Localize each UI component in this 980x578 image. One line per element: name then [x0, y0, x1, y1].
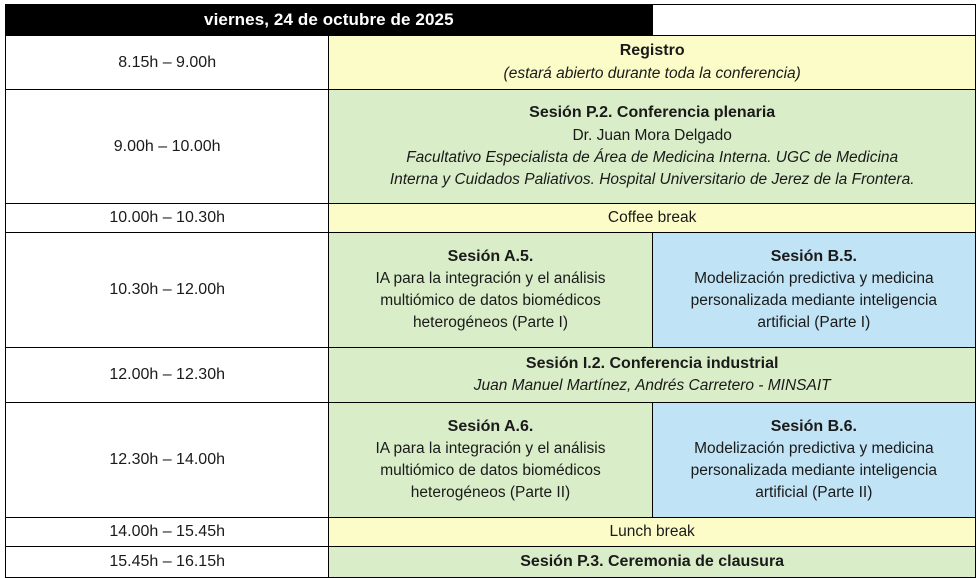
schedule-row: 14.00h – 15.45hLunch break: [6, 518, 976, 547]
schedule-row: 10.30h – 12.00hSesión A.5.IA para la int…: [6, 233, 976, 348]
session-title: Sesión A.6.: [329, 416, 651, 439]
break-cell[interactable]: Registro(estará abierto durante toda la …: [329, 36, 976, 90]
time-slot-cell: 15.45h – 16.15h: [6, 547, 329, 578]
time-slot-cell: 10.30h – 12.00h: [6, 233, 329, 348]
session-detail: heterogéneos (Parte I): [329, 312, 651, 334]
session-detail-italic: Interna y Cuidados Paliativos. Hospital …: [329, 169, 975, 191]
session-cell-track-a[interactable]: Sesión A.5.IA para la integración y el a…: [329, 233, 652, 348]
day-header-title: viernes, 24 de octubre de 2025: [6, 5, 653, 36]
session-title: Sesión B.5.: [653, 246, 975, 269]
time-slot-cell: 12.30h – 14.00h: [6, 403, 329, 518]
session-detail: Modelización predictiva y medicina: [653, 268, 975, 290]
session-detail-italic: Facultativo Especialista de Área de Medi…: [329, 147, 975, 169]
session-title: Sesión P.2. Conferencia plenaria: [329, 102, 975, 125]
session-cell-full[interactable]: Sesión P.3. Ceremonia de clausura: [329, 547, 976, 578]
schedule-row: 9.00h – 10.00hSesión P.2. Conferencia pl…: [6, 90, 976, 204]
break-cell[interactable]: Lunch break: [329, 518, 976, 547]
session-cell-track-b[interactable]: Sesión B.6.Modelización predictiva y med…: [652, 403, 975, 518]
schedule-row: 12.00h – 12.30hSesión I.2. Conferencia i…: [6, 348, 976, 403]
session-detail: Coffee break: [329, 207, 975, 229]
schedule-row: 12.30h – 14.00hSesión A.6.IA para la int…: [6, 403, 976, 518]
session-title: Sesión B.6.: [653, 416, 975, 439]
schedule-row: 8.15h – 9.00hRegistro(estará abierto dur…: [6, 36, 976, 90]
session-detail: heterogéneos (Parte II): [329, 482, 651, 504]
schedule-container: viernes, 24 de octubre de 2025 8.15h – 9…: [0, 0, 980, 577]
session-title: Sesión A.5.: [329, 246, 651, 269]
session-cell-track-b[interactable]: Sesión B.5.Modelización predictiva y med…: [652, 233, 975, 348]
schedule-table: viernes, 24 de octubre de 2025 8.15h – 9…: [5, 4, 976, 578]
session-detail: Dr. Juan Mora Delgado: [329, 125, 975, 147]
session-detail: IA para la integración y el análisis: [329, 438, 651, 460]
schedule-row: 10.00h – 10.30hCoffee break: [6, 204, 976, 233]
session-detail-italic: (estará abierto durante toda la conferen…: [329, 63, 975, 85]
session-detail: artificial (Parte I): [653, 312, 975, 334]
session-title: Sesión P.3. Ceremonia de clausura: [329, 551, 975, 574]
session-cell-track-a[interactable]: Sesión A.6.IA para la integración y el a…: [329, 403, 652, 518]
time-slot-cell: 10.00h – 10.30h: [6, 204, 329, 233]
session-detail: Lunch break: [329, 521, 975, 543]
session-detail: multiómico de datos biomédicos: [329, 290, 651, 312]
session-cell-full[interactable]: Sesión I.2. Conferencia industrialJuan M…: [329, 348, 976, 403]
break-cell[interactable]: Coffee break: [329, 204, 976, 233]
session-title: Registro: [329, 40, 975, 63]
session-detail-italic: Juan Manuel Martínez, Andrés Carretero -…: [329, 375, 975, 397]
session-title: Sesión I.2. Conferencia industrial: [329, 353, 975, 376]
time-slot-cell: 12.00h – 12.30h: [6, 348, 329, 403]
session-detail: artificial (Parte II): [653, 482, 975, 504]
schedule-row: 15.45h – 16.15hSesión P.3. Ceremonia de …: [6, 547, 976, 578]
session-detail: multiómico de datos biomédicos: [329, 460, 651, 482]
session-detail: personalizada mediante inteligencia: [653, 290, 975, 312]
time-slot-cell: 9.00h – 10.00h: [6, 90, 329, 204]
session-cell-full[interactable]: Sesión P.2. Conferencia plenariaDr. Juan…: [329, 90, 976, 204]
session-detail: IA para la integración y el análisis: [329, 268, 651, 290]
day-header-row: viernes, 24 de octubre de 2025: [6, 5, 976, 36]
schedule-body: viernes, 24 de octubre de 2025 8.15h – 9…: [6, 5, 976, 578]
time-slot-cell: 8.15h – 9.00h: [6, 36, 329, 90]
session-detail: personalizada mediante inteligencia: [653, 460, 975, 482]
time-slot-cell: 14.00h – 15.45h: [6, 518, 329, 547]
session-detail: Modelización predictiva y medicina: [653, 438, 975, 460]
